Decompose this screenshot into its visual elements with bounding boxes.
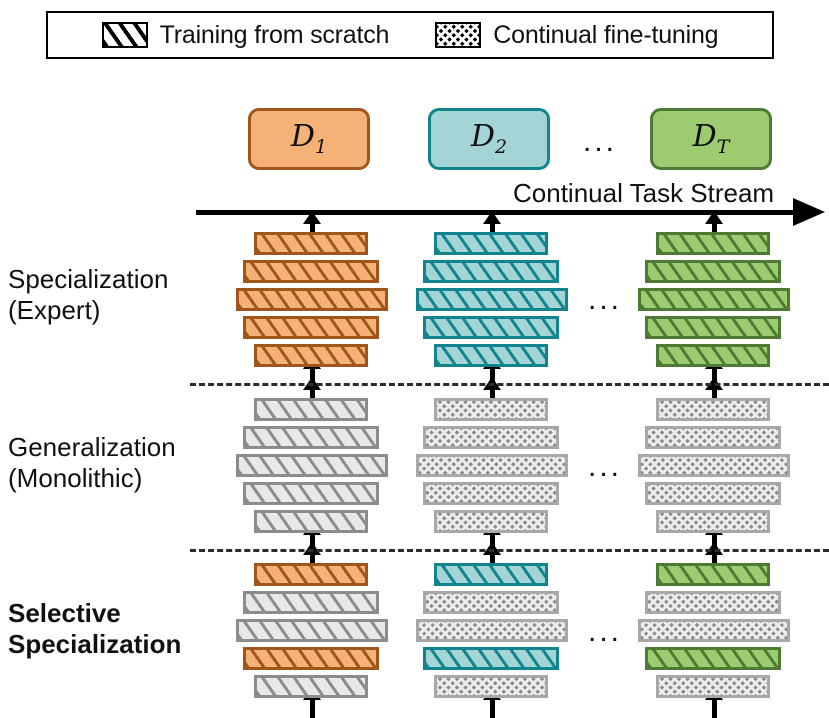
legend: Training from scratch Continual fine-tun… xyxy=(46,11,774,59)
dataset-ellipsis: ... xyxy=(583,127,617,157)
layer-stack-specialization-expert-column-task-T xyxy=(638,232,829,382)
layer-4-crosshatch xyxy=(645,482,781,505)
legend-label-training-from-scratch: Training from scratch xyxy=(160,23,390,48)
layer-4-diagonal xyxy=(645,316,781,339)
output-arrow-head-icon xyxy=(483,211,501,224)
layer-stack-generalization-monolithic-column-task-2 xyxy=(416,398,616,548)
dataset-symbol-1: D xyxy=(291,119,315,154)
figure-canvas: Training from scratch Continual fine-tun… xyxy=(0,0,829,716)
layer-3-diagonal xyxy=(236,619,388,642)
layer-5-crosshatch xyxy=(656,510,770,533)
dataset-symbol-2: D xyxy=(471,119,495,154)
layer-4-diagonal xyxy=(423,316,559,339)
legend-label-continual-fine-tuning: Continual fine-tuning xyxy=(493,23,718,48)
layer-4-diagonal xyxy=(243,647,379,670)
layer-2-crosshatch xyxy=(423,591,559,614)
layer-3-crosshatch xyxy=(416,619,568,642)
layer-4-diagonal xyxy=(423,647,559,670)
layer-3-diagonal xyxy=(638,288,790,311)
layer-1-diagonal xyxy=(434,232,548,255)
dataset-box-T: DT xyxy=(650,108,772,170)
layer-1-diagonal xyxy=(254,398,368,421)
row-divider-1 xyxy=(190,383,829,386)
dataset-label-T: DT xyxy=(693,122,730,157)
dataset-box-2: D2 xyxy=(428,108,550,170)
row-label-specialization-expert: Specialization (Expert) xyxy=(8,264,168,325)
layer-5-diagonal xyxy=(254,675,368,698)
layer-2-crosshatch xyxy=(645,426,781,449)
layer-4-diagonal xyxy=(243,482,379,505)
layer-stack-selective-specialization-column-task-1 xyxy=(236,563,436,713)
layer-5-diagonal xyxy=(434,344,548,367)
layer-5-crosshatch xyxy=(434,510,548,533)
layer-1-diagonal xyxy=(656,232,770,255)
output-arrow-head-icon xyxy=(303,211,321,224)
layer-5-diagonal xyxy=(254,344,368,367)
layer-4-diagonal xyxy=(645,647,781,670)
layer-stack-generalization-monolithic-column-task-1 xyxy=(236,398,436,548)
layer-1-crosshatch xyxy=(656,398,770,421)
layer-4-crosshatch xyxy=(423,482,559,505)
layer-3-crosshatch xyxy=(638,619,790,642)
layer-1-crosshatch xyxy=(434,398,548,421)
layer-4-diagonal xyxy=(243,316,379,339)
layer-1-diagonal xyxy=(254,563,368,586)
cross-hatch-swatch-icon xyxy=(435,22,481,48)
dataset-subscript-1: 1 xyxy=(315,136,327,158)
dataset-box-1: D1 xyxy=(248,108,370,170)
layer-3-crosshatch xyxy=(638,454,790,477)
continual-task-stream-label: Continual Task Stream xyxy=(513,178,774,209)
layer-1-diagonal xyxy=(434,563,548,586)
output-arrow-head-icon xyxy=(705,211,723,224)
layer-5-diagonal xyxy=(254,510,368,533)
layer-1-diagonal xyxy=(254,232,368,255)
layer-2-diagonal xyxy=(243,426,379,449)
layer-3-diagonal xyxy=(236,454,388,477)
layer-stack-selective-specialization-column-task-2 xyxy=(416,563,616,713)
layer-2-diagonal xyxy=(423,260,559,283)
dataset-subscript-T: T xyxy=(717,136,730,158)
row-divider-2 xyxy=(190,549,829,552)
layer-2-crosshatch xyxy=(423,426,559,449)
right-arrow-icon xyxy=(793,198,825,226)
layer-3-crosshatch xyxy=(416,454,568,477)
legend-item-training-from-scratch: Training from scratch xyxy=(102,22,390,48)
layer-5-crosshatch xyxy=(434,675,548,698)
layer-stack-selective-specialization-column-task-T xyxy=(638,563,829,713)
layer-stack-generalization-monolithic-column-task-T xyxy=(638,398,829,548)
layer-1-diagonal xyxy=(656,563,770,586)
layer-2-crosshatch xyxy=(645,591,781,614)
dataset-subscript-2: 2 xyxy=(495,136,507,158)
row-label-generalization-monolithic: Generalization (Monolithic) xyxy=(8,432,176,493)
dataset-label-2: D2 xyxy=(471,122,507,157)
layer-3-diagonal xyxy=(236,288,388,311)
layer-3-diagonal xyxy=(416,288,568,311)
dataset-symbol-T: D xyxy=(693,119,717,154)
layer-2-diagonal xyxy=(645,260,781,283)
layer-stack-specialization-expert-column-task-1 xyxy=(236,232,436,382)
layer-2-diagonal xyxy=(243,591,379,614)
layer-2-diagonal xyxy=(243,260,379,283)
dataset-label-1: D1 xyxy=(291,122,327,157)
layer-5-diagonal xyxy=(656,344,770,367)
row-label-selective-specialization: Selective Specialization xyxy=(8,598,181,659)
layer-5-crosshatch xyxy=(656,675,770,698)
diagonal-hatch-swatch-icon xyxy=(102,22,148,48)
layer-stack-specialization-expert-column-task-2 xyxy=(416,232,616,382)
legend-item-continual-fine-tuning: Continual fine-tuning xyxy=(435,22,718,48)
